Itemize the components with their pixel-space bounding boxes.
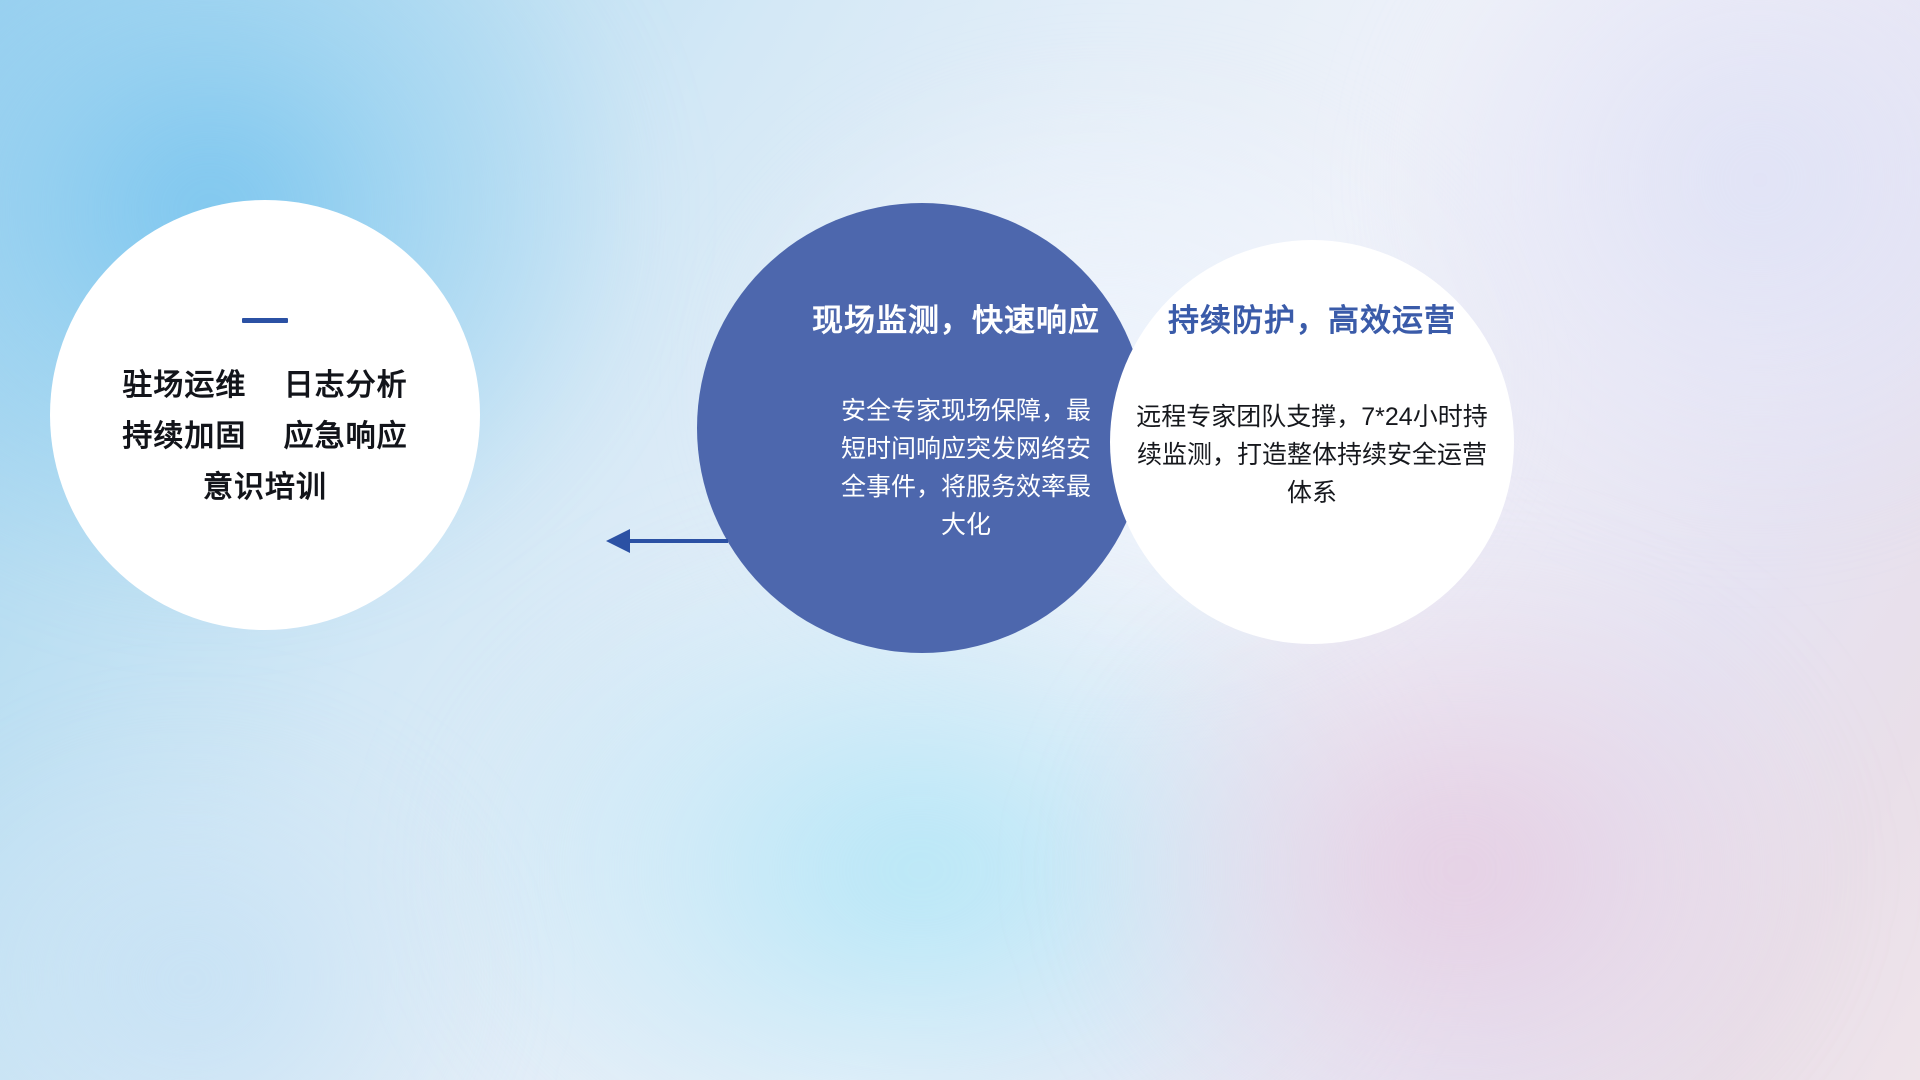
capabilities-line-2: 持续加固 应急响应 xyxy=(122,420,407,453)
capabilities-list: 驻场运维 日志分析 持续加固 应急响应 意识培训 xyxy=(122,369,407,504)
continuous-protection-title: 持续防护，高效运营 xyxy=(1168,295,1456,340)
slide-canvas: 驻场运维 日志分析 持续加固 应急响应 意识培训 现场监测，快速响应 安全专家现… xyxy=(0,0,1920,1080)
onsite-monitoring-title: 现场监测，快速响应 xyxy=(812,295,1100,340)
continuous-protection-body: 远程专家团队支撑，7*24小时持续监测，打造整体持续安全运营体系 xyxy=(1136,398,1488,512)
capabilities-line-3: 意识培训 xyxy=(203,471,327,504)
background-glow-bottom-left xyxy=(0,720,500,1080)
continuous-protection-content: 持续防护，高效运营 远程专家团队支撑，7*24小时持续监测，打造整体持续安全运营… xyxy=(1110,240,1514,644)
onsite-monitoring-content: 现场监测，快速响应 安全专家现场保障，最短时间响应突发网络安全事件，将服务效率最… xyxy=(697,203,1147,653)
horizontal-dash-icon xyxy=(242,318,288,323)
onsite-monitoring-body: 安全专家现场保障，最短时间响应突发网络安全事件，将服务效率最大化 xyxy=(832,392,1100,544)
capabilities-line-1: 驻场运维 日志分析 xyxy=(122,369,407,402)
capabilities-content: 驻场运维 日志分析 持续加固 应急响应 意识培训 xyxy=(50,200,480,630)
